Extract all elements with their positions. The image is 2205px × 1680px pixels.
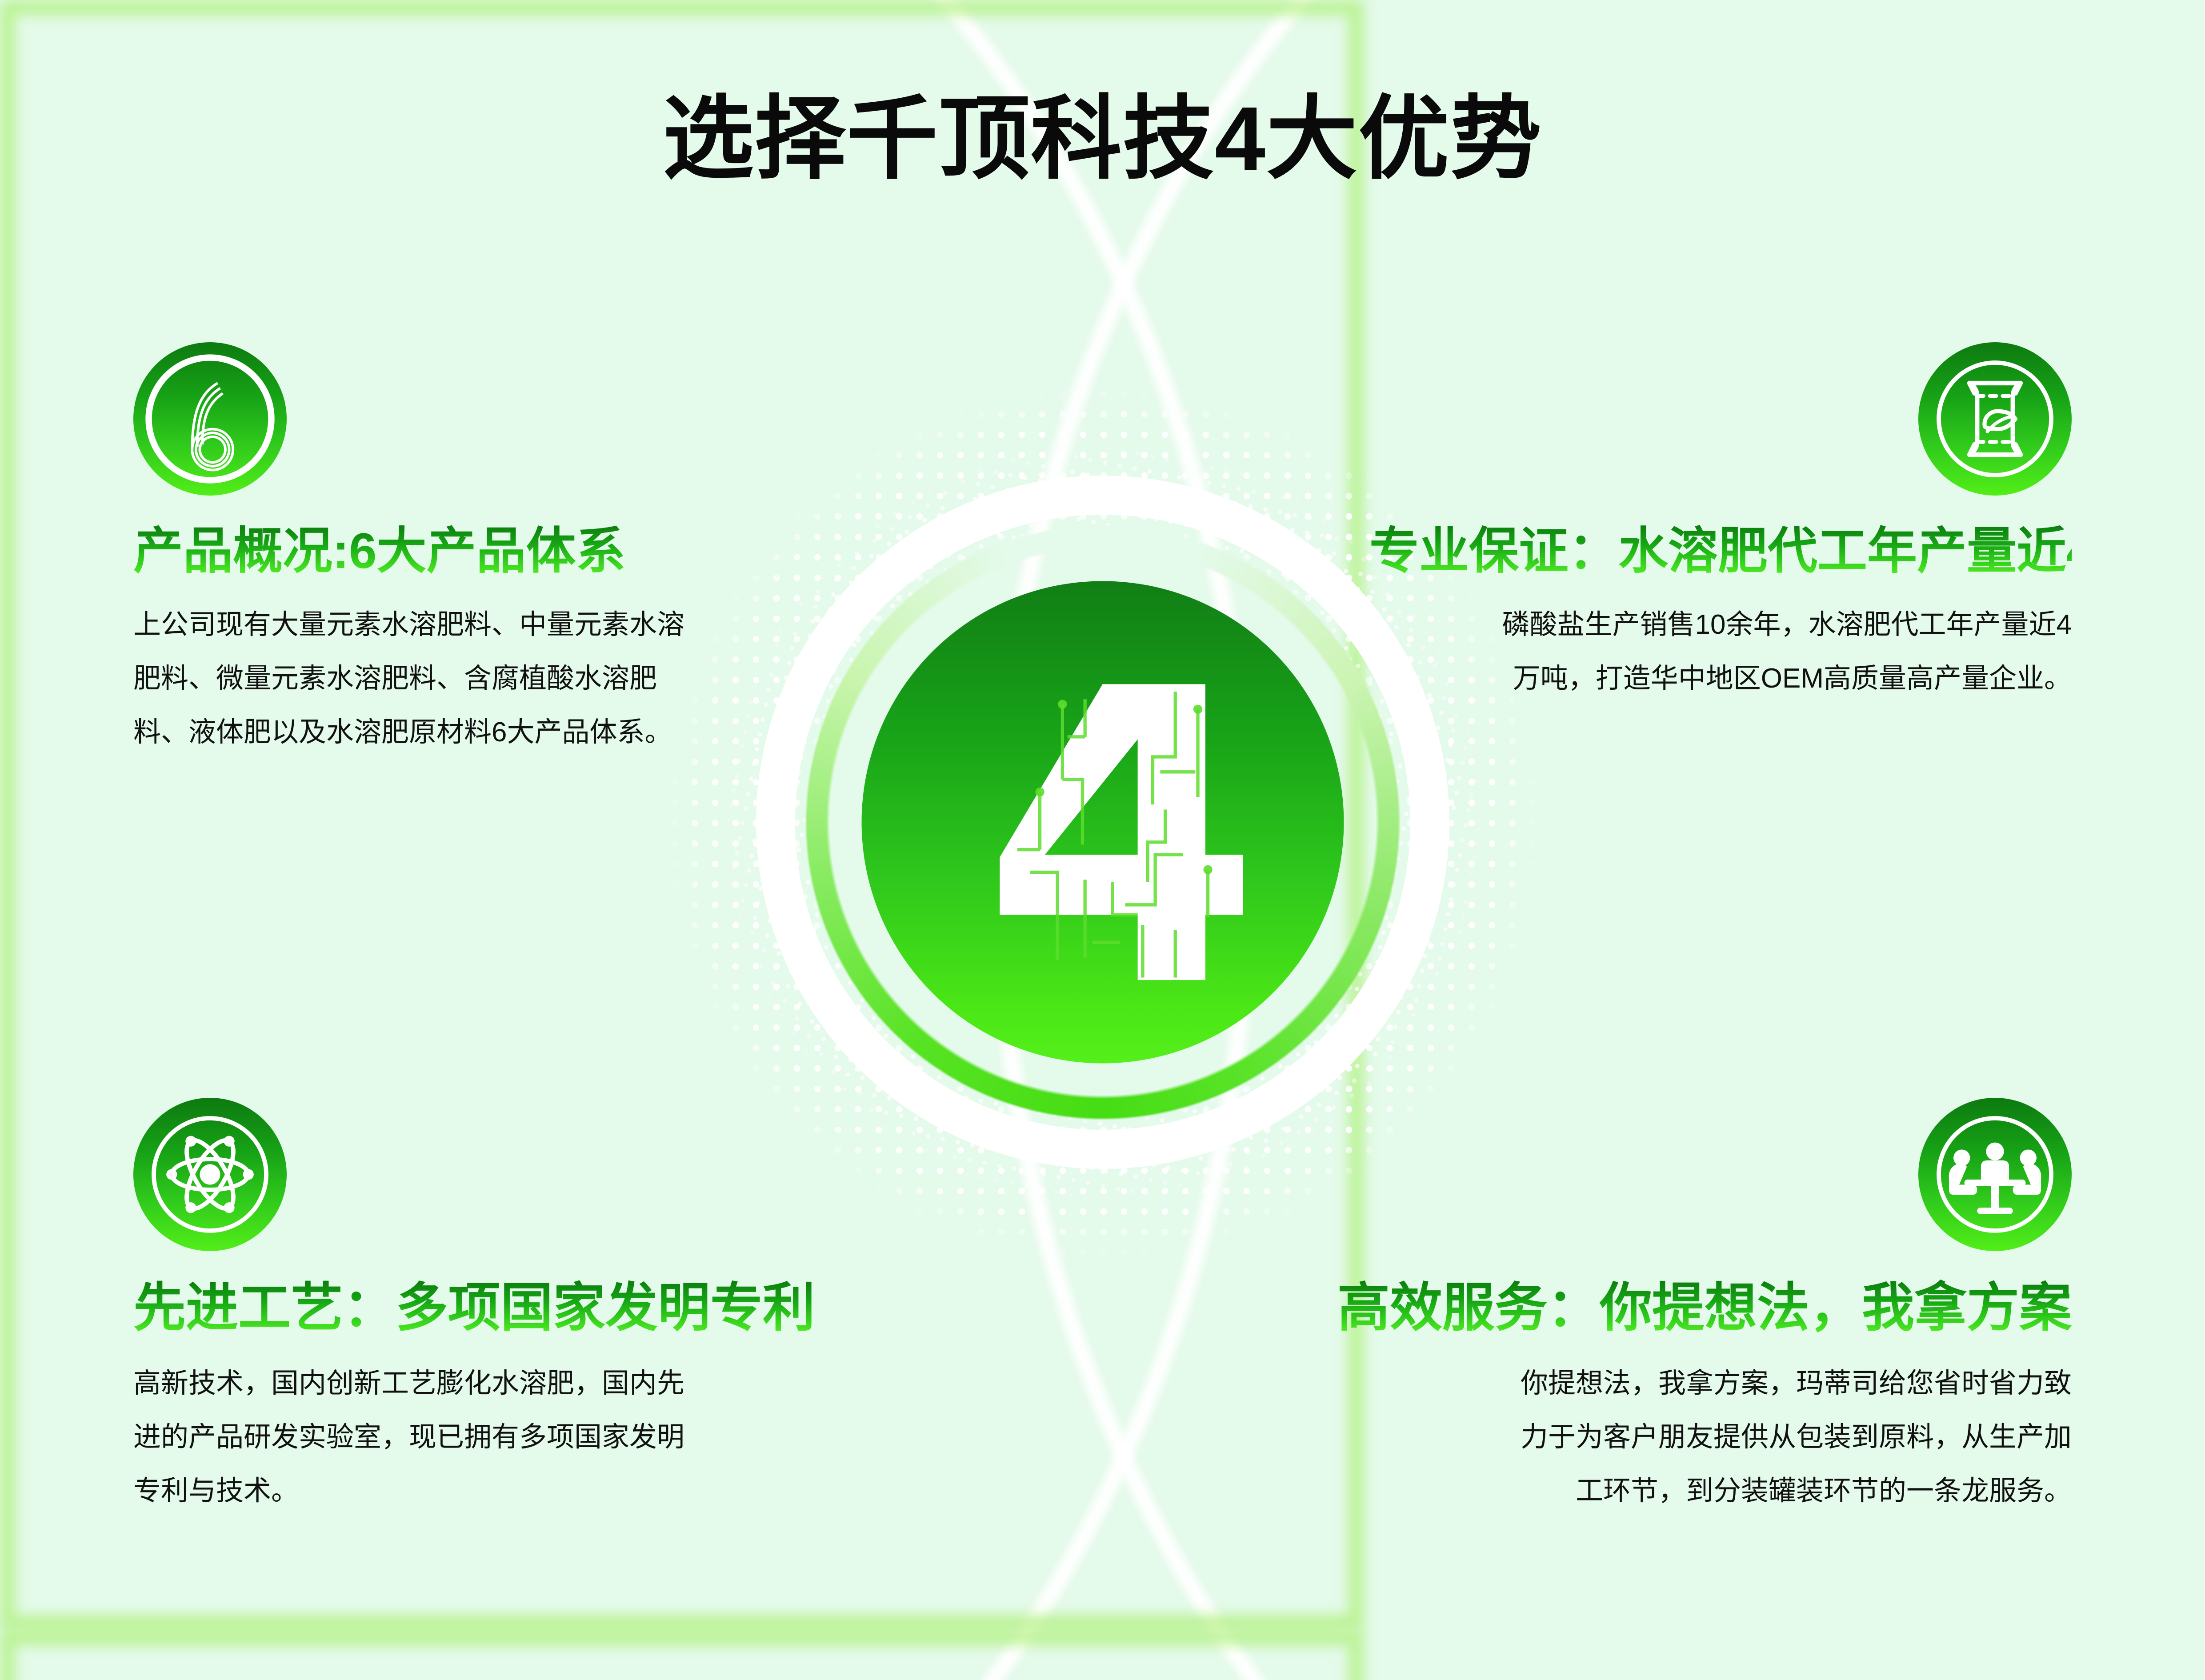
advantage-heading: 高效服务：你提想法，我拿方案 [1272, 1279, 2072, 1337]
advantage-card-advanced-process: 先进工艺：多项国家发明专利 高新技术，国内创新工艺膨化水溶肥，国内先进的产品研发… [133, 1098, 933, 1518]
circuit-number-four-icon [914, 634, 1290, 1010]
fertilizer-bag-icon [1918, 342, 2072, 496]
number-six-spiral-icon [133, 342, 287, 496]
advantage-card-product-overview: 产品概况:6大产品体系 上公司现有大量元素水溶肥料、中量元素水溶肥料、微量元素水… [133, 342, 836, 760]
advantage-body: 上公司现有大量元素水溶肥料、中量元素水溶肥料、微量元素水溶肥料、含腐植酸水溶肥料… [133, 598, 693, 760]
center-number-circle [861, 581, 1344, 1064]
advantage-heading: 专业保证：水溶肥代工年产量近4万吨 [1369, 523, 2072, 579]
page-title: 选择千顶科技4大优势 [0, 93, 2205, 184]
atom-icon [133, 1098, 287, 1251]
advantage-card-efficient-service: 高效服务：你提想法，我拿方案 你提想法，我拿方案，玛蒂司给您省时省力致力于为客户… [1272, 1098, 2072, 1518]
background-arc-green-bottom-right [0, 1630, 1364, 1680]
advantage-heading: 产品概况:6大产品体系 [133, 523, 836, 579]
advantage-card-professional-guarantee: 专业保证：水溶肥代工年产量近4万吨 磷酸盐生产销售10余年，水溶肥代工年产量近4… [1369, 342, 2072, 706]
advantage-body: 你提想法，我拿方案，玛蒂司给您省时省力致力于为客户朋友提供从包装到原料，从生产加… [1498, 1357, 2072, 1518]
advantage-body: 高新技术，国内创新工艺膨化水溶肥，国内先进的产品研发实验室，现已拥有多项国家发明… [133, 1357, 693, 1518]
meeting-table-people-icon [1918, 1098, 2072, 1251]
advantage-body: 磷酸盐生产销售10余年，水溶肥代工年产量近4万吨，打造华中地区OEM高质量高产量… [1498, 598, 2072, 706]
advantage-heading: 先进工艺：多项国家发明专利 [133, 1279, 933, 1337]
